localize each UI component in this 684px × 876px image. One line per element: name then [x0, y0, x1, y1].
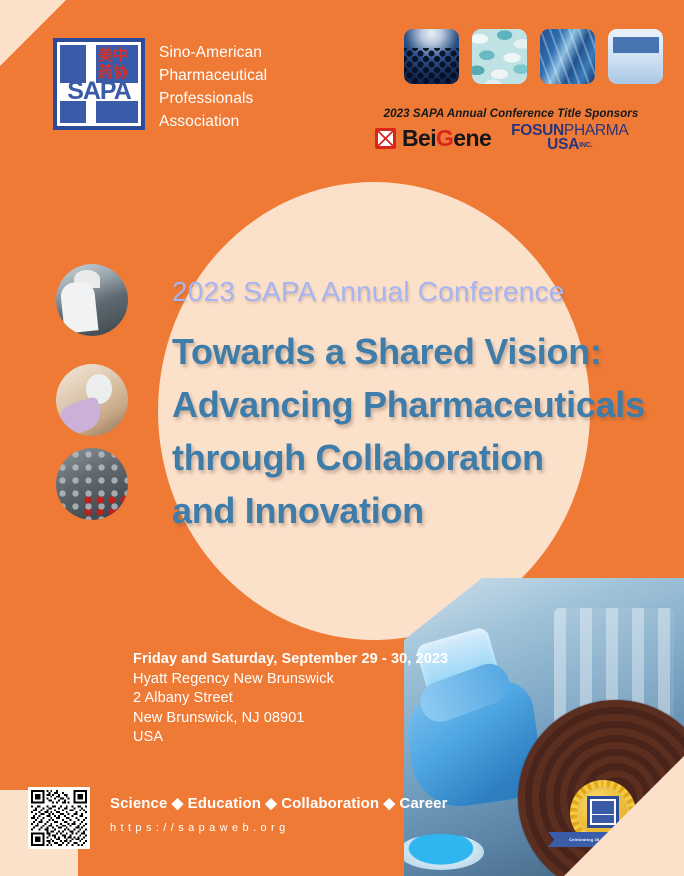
venue-city-state-zip: New Brunswick, NJ 08901 — [133, 709, 448, 729]
org-name-line-2: Pharmaceutical — [159, 64, 267, 87]
beigene-mark-icon — [375, 128, 396, 149]
values-tagline: Science ◆ Education ◆ Collaboration ◆ Ca… — [110, 794, 448, 812]
gloved-hands-lab-work-photo — [56, 364, 128, 436]
sapa-logo-icon: 美中药协 SAPA — [53, 38, 145, 130]
seal-sapa-logo-icon — [587, 796, 619, 828]
beigene-wordmark: BeiGene — [402, 127, 491, 150]
organization-name: Sino-American Pharmaceutical Professiona… — [159, 38, 267, 133]
beigene-logo: BeiGene — [375, 127, 491, 150]
capsules-pills-photo — [472, 29, 527, 84]
beigene-g: G — [436, 125, 453, 151]
org-name-line-3: Professionals — [159, 87, 267, 110]
beigene-ene: ene — [453, 125, 491, 151]
scientist-at-microscope-photo — [56, 264, 128, 336]
fosun-pharma-logo: FOSUNPHARMA USAINC. — [511, 124, 628, 153]
tagline-science: Science — [110, 795, 167, 812]
org-name-line-4: Association — [159, 110, 267, 133]
title-line-1: Towards a Shared Vision: — [172, 325, 672, 378]
sapa-logo-block: 美中药协 SAPA Sino-American Pharmaceutical P… — [53, 38, 267, 133]
website-url[interactable]: https://sapaweb.org — [110, 822, 290, 834]
fosun-inc-word: INC. — [579, 142, 592, 149]
venue-name: Hyatt Regency New Brunswick — [133, 670, 448, 690]
header-thumbnail-strip — [404, 29, 663, 84]
blister-pack-pills-photo — [56, 448, 128, 520]
conference-date: Friday and Saturday, September 29 - 30, … — [133, 650, 448, 670]
beigene-bei: Bei — [402, 125, 436, 151]
tagline-separator-1: ◆ — [172, 795, 184, 812]
tagline-separator-2: ◆ — [265, 795, 277, 812]
lab-vials-photo — [608, 29, 663, 84]
tagline-career: Career — [399, 795, 447, 812]
tagline-separator-3: ◆ — [383, 795, 395, 812]
hex-well-plate-photo — [404, 29, 459, 84]
venue-country: USA — [133, 728, 448, 748]
title-line-3: through Collaboration — [172, 431, 672, 484]
venue-street: 2 Albany Street — [133, 689, 448, 709]
conference-poster: 美中药协 SAPA Sino-American Pharmaceutical P… — [0, 0, 684, 876]
blue-abstract-wave-photo — [540, 29, 595, 84]
title-line-2: Advancing Pharmaceuticals — [172, 378, 672, 431]
title-line-4: and Innovation — [172, 484, 672, 537]
sponsor-logos-row: BeiGene FOSUNPHARMA USAINC. — [375, 124, 655, 153]
qr-code-svg — [31, 790, 87, 846]
tagline-collaboration: Collaboration — [281, 795, 379, 812]
page-title: Towards a Shared Vision: Advancing Pharm… — [172, 325, 672, 537]
org-name-line-1: Sino-American — [159, 41, 267, 64]
sapa-website-qr-code[interactable] — [28, 787, 90, 849]
sponsors-heading: 2023 SAPA Annual Conference Title Sponso… — [375, 108, 647, 120]
sapa-logo-acronym: SAPA — [60, 78, 138, 104]
conference-eyebrow: 2023 SAPA Annual Conference — [172, 276, 565, 308]
petri-dish — [404, 834, 484, 870]
tagline-education: Education — [188, 795, 261, 812]
venue-details: Friday and Saturday, September 29 - 30, … — [133, 650, 448, 748]
fosun-usa-word: USA — [547, 136, 579, 153]
